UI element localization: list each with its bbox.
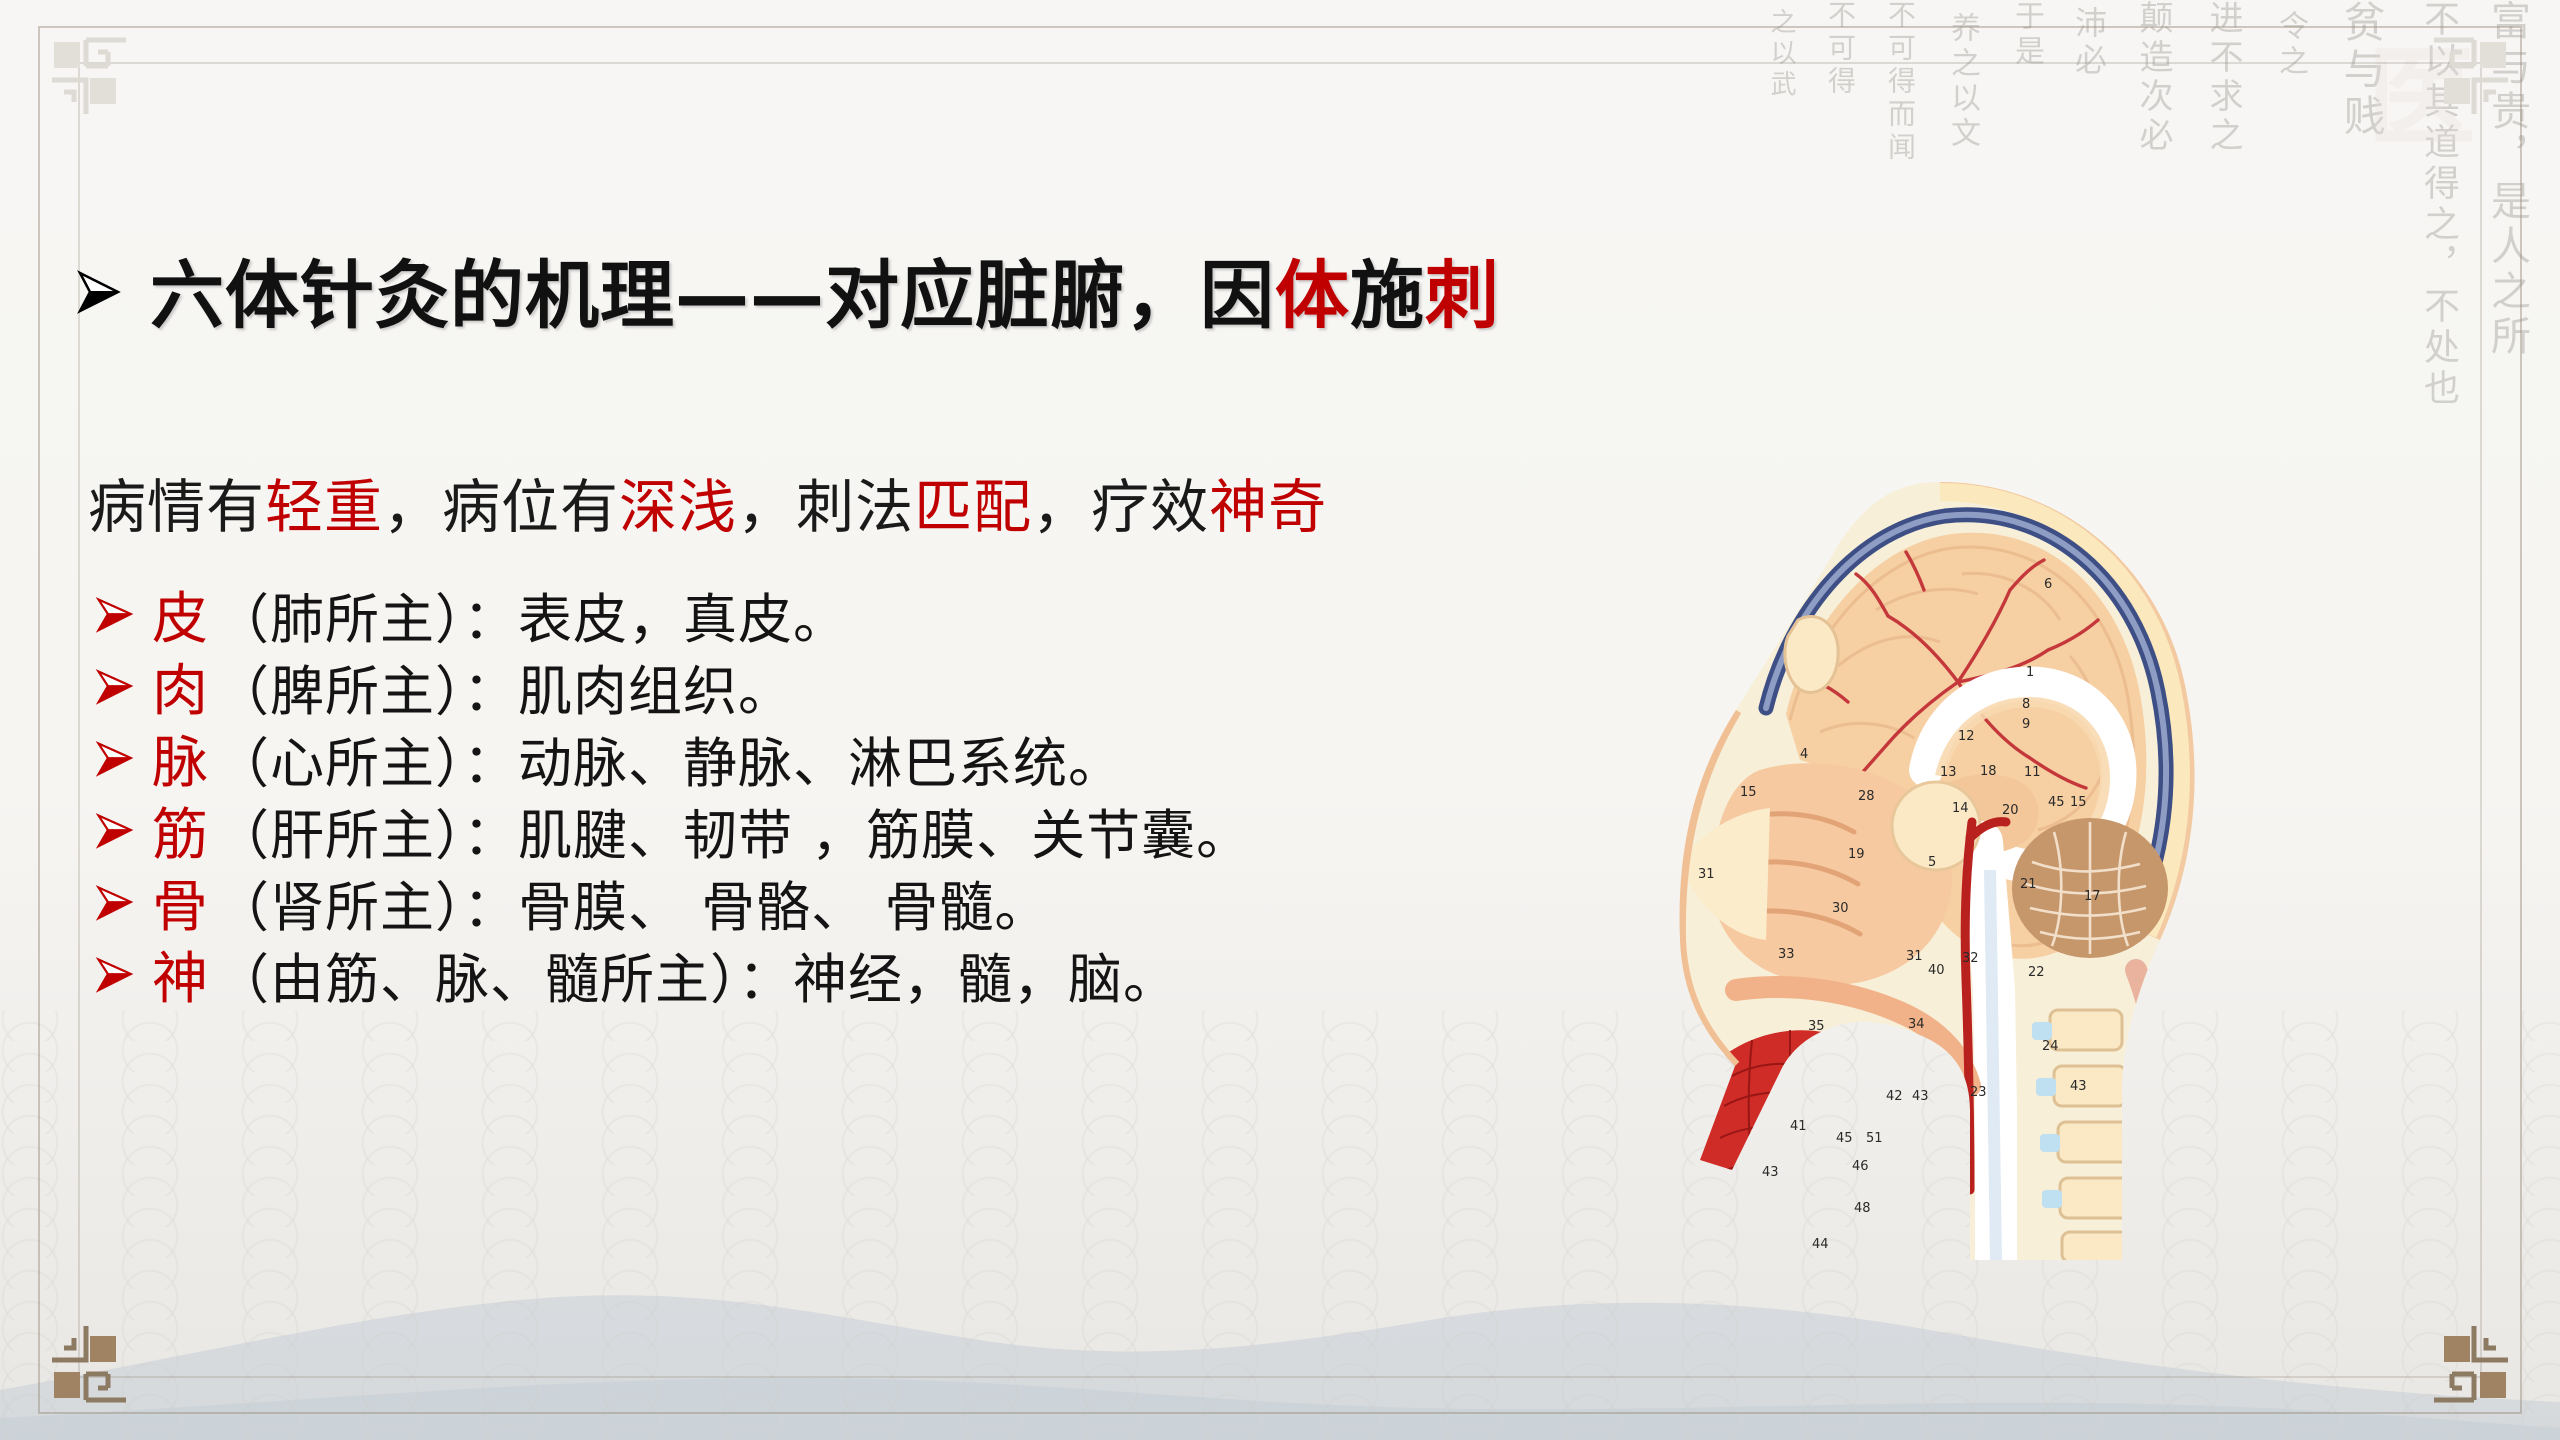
title-segment: 六体针灸的机理——对应脏腑，因: [150, 236, 1275, 343]
seal-column: 进不求之: [2199, 0, 2248, 156]
list-item[interactable]: 皮 （肺所主）：表皮，真皮。: [90, 578, 1251, 650]
anatomy-label: 8: [2022, 697, 2030, 712]
seal-column: 不可得: [1820, 0, 1860, 99]
anatomy-label: 14: [1952, 801, 1969, 816]
lead-segment: 病情有: [88, 473, 265, 541]
anatomy-label: 6: [2044, 577, 2052, 592]
anatomy-label: 31: [1698, 867, 1715, 882]
lead-segment-highlight: 深浅: [619, 473, 737, 541]
anatomy-label: 30: [1832, 901, 1849, 916]
lead-segment: ，病位有: [383, 473, 619, 541]
lead-paragraph: 病情有轻重，病位有深浅，刺法匹配，疗效神奇: [88, 460, 1327, 544]
anatomy-label: 45: [2048, 795, 2065, 810]
anatomy-label: 32: [1962, 951, 1979, 966]
title-segment-highlight: 刺: [1425, 236, 1500, 343]
list-item-organ: 神: [152, 934, 209, 1015]
seal-column: 沛必: [2066, 6, 2112, 80]
anatomy-label: 33: [1778, 947, 1795, 962]
anatomy-label: 12: [1958, 729, 1975, 744]
anatomy-label: 48: [1854, 1201, 1871, 1216]
corner-ornament-top-right: [2410, 18, 2530, 138]
lead-segment-highlight: 匹配: [914, 473, 1032, 541]
seal-column: 养之以文: [1940, 12, 1984, 152]
list-item[interactable]: 肉 （脾所主）：肌肉组织。: [90, 650, 1251, 722]
arrow-bullet-icon: [90, 951, 152, 997]
lead-segment: ，刺法: [737, 473, 914, 541]
list-item-detail: （心所主）：动脉、静脉、淋巴系统。: [215, 719, 1123, 798]
seal-column: 不可得而闻: [1880, 0, 1920, 165]
list-item[interactable]: 筋 （肝所主）：肌腱、韧带 ，筋膜、关节囊。: [90, 794, 1251, 866]
anatomy-label: 15: [2070, 795, 2087, 810]
anatomy-label: 43: [1912, 1089, 1929, 1104]
anatomy-label: 24: [2042, 1039, 2059, 1054]
anatomy-label: 21: [2020, 877, 2037, 892]
anatomy-label: 28: [1858, 789, 1875, 804]
six-body-list: 皮 （肺所主）：表皮，真皮。 肉 （脾所主）：肌肉组织。: [90, 578, 1251, 1010]
anatomy-label: 17: [2084, 889, 2101, 904]
anatomy-label: 45: [1836, 1131, 1853, 1146]
anatomy-label: 20: [2002, 803, 2019, 818]
corner-ornament-bottom-left: [30, 1302, 150, 1422]
anatomy-label: 44: [1812, 1237, 1829, 1252]
seal-column: 于是: [2004, 0, 2048, 70]
corner-ornament-top-left: [30, 18, 150, 138]
anatomy-label: 15: [1740, 785, 1757, 800]
anatomy-label: 46: [1852, 1159, 1869, 1174]
anatomy-label: 43: [2070, 1079, 2087, 1094]
anatomy-label: 5: [1928, 855, 1936, 870]
list-item-detail: （肺所主）：表皮，真皮。: [215, 575, 848, 654]
anatomy-label: 22: [2028, 965, 2045, 980]
list-item-organ: 皮: [152, 574, 209, 655]
list-item-detail: （脾所主）：肌肉组织。: [215, 647, 793, 726]
title-segment-highlight: 体: [1275, 236, 1350, 343]
anatomy-label: 40: [1928, 963, 1945, 978]
head-sagittal-anatomy-illustration: 6 1 8 9 12 13 18 11 45 15 14 20 4 15 28 …: [1640, 470, 2220, 1260]
anatomy-label: 9: [2022, 717, 2030, 732]
arrow-bullet-icon: [90, 663, 152, 709]
title-segment: 施: [1350, 236, 1425, 343]
list-item-detail: （肝所主）：肌腱、韧带 ，筋膜、关节囊。: [215, 791, 1251, 870]
anatomy-label: 34: [1908, 1017, 1925, 1032]
slide-canvas: 富与贵，是人之所 不以其道得之，不处也 贫与贱 令之 进不求之 颠造次必 沛必 …: [0, 0, 2560, 1440]
list-item-detail: （肾所主）：骨膜、 骨骼、 骨髓。: [215, 863, 1049, 942]
anatomy-label: 1: [2026, 665, 2034, 680]
list-item-detail: （由筋、脉、髓所主）：神经，髓，脑。: [215, 935, 1178, 1014]
list-item-organ: 肉: [152, 646, 209, 727]
lead-segment-highlight: 轻重: [265, 473, 383, 541]
anatomy-label: 18: [1980, 764, 1997, 779]
arrow-bullet-icon: [90, 879, 152, 925]
seal-column: 之以武: [1763, 8, 1800, 101]
list-item-organ: 脉: [152, 718, 209, 799]
lead-segment: ，疗效: [1032, 473, 1209, 541]
seal-column: 令之: [2268, 10, 2312, 80]
seal-column: 颠造次必: [2129, 0, 2178, 156]
list-item[interactable]: 骨 （肾所主）：骨膜、 骨骼、 骨髓。: [90, 866, 1251, 938]
lead-segment-highlight: 神奇: [1209, 473, 1327, 541]
arrow-bullet-icon: [90, 807, 152, 853]
anatomy-label: 35: [1808, 1019, 1825, 1034]
anatomy-label: 31: [1906, 949, 1923, 964]
anatomy-label: 13: [1940, 765, 1957, 780]
anatomy-label: 43: [1762, 1165, 1779, 1180]
anatomy-label: 42: [1886, 1089, 1903, 1104]
anatomy-label: 4: [1800, 747, 1808, 762]
anatomy-label: 41: [1790, 1119, 1807, 1134]
arrow-bullet-icon: [90, 735, 152, 781]
slide-title: 六体针灸的机理——对应脏腑，因 体 施 刺: [70, 236, 1500, 343]
anatomy-label: 23: [1970, 1085, 1987, 1100]
anatomy-label: 11: [2024, 765, 2041, 780]
anatomy-label: 19: [1848, 847, 1865, 862]
arrow-bullet-icon: [90, 591, 152, 637]
anatomy-label: 51: [1866, 1131, 1883, 1146]
list-item-organ: 骨: [152, 862, 209, 943]
list-item[interactable]: 脉 （心所主）：动脉、静脉、淋巴系统。: [90, 722, 1251, 794]
arrow-bullet-icon: [70, 251, 124, 337]
list-item[interactable]: 神 （由筋、脉、髓所主）：神经，髓，脑。: [90, 938, 1251, 1010]
corner-ornament-bottom-right: [2410, 1302, 2530, 1422]
list-item-organ: 筋: [152, 790, 209, 871]
